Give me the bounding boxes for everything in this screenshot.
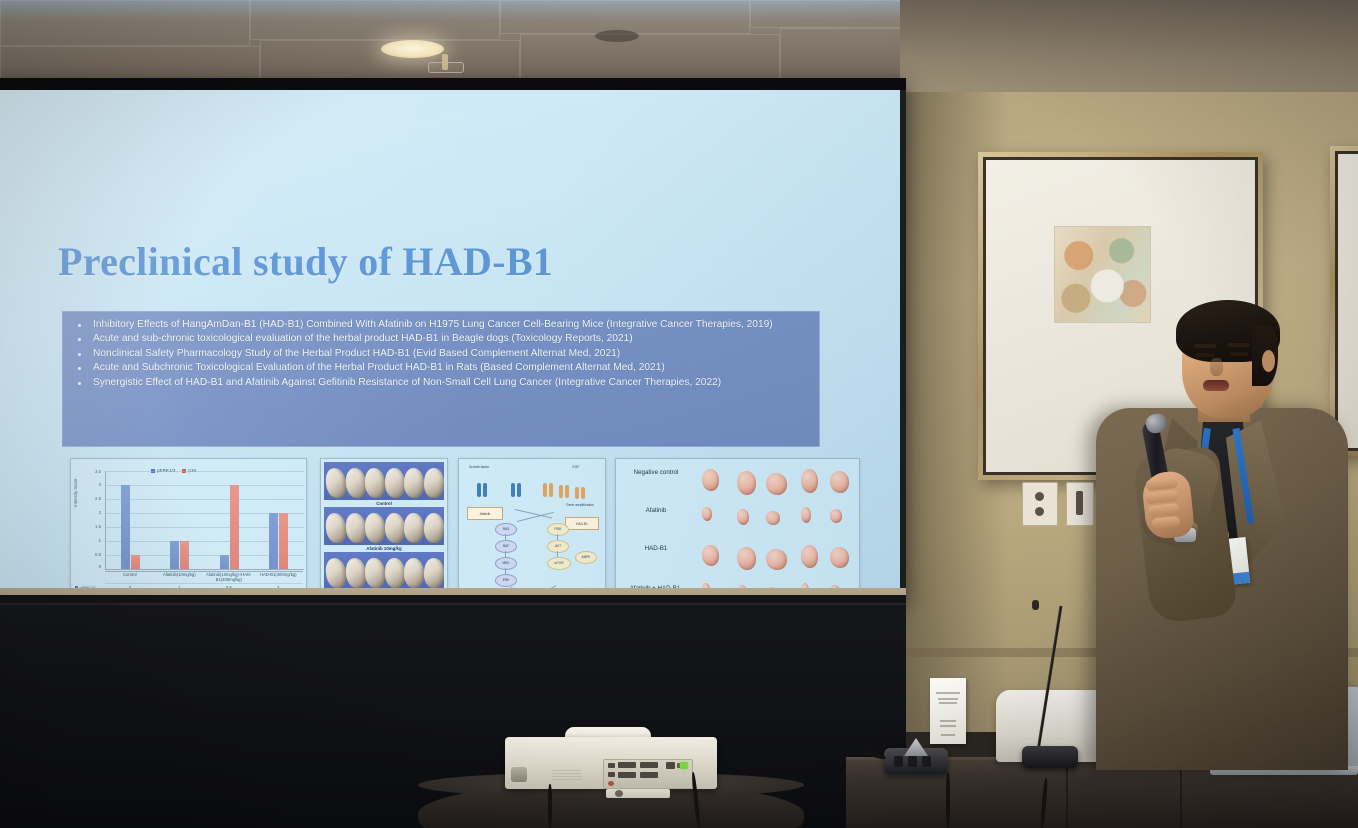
wall-outlet[interactable] <box>1022 482 1058 526</box>
tumor-specimen <box>702 507 712 521</box>
bar-group <box>121 485 140 569</box>
mouse-specimen <box>385 513 405 543</box>
pathway-node-mtor: mTOR <box>547 557 571 570</box>
list-item: Synergistic Effect of HAD-B1 and Afatini… <box>71 377 809 389</box>
list-item: Nonclinical Safety Pharmacology Study of… <box>71 348 809 360</box>
bar-p16 <box>279 513 288 569</box>
mouse-specimen <box>404 513 425 544</box>
y-tick: 2 <box>89 510 101 515</box>
y-tick: 2.5 <box>89 496 101 501</box>
bar-group <box>170 541 189 569</box>
y-tick: 1 <box>89 538 101 543</box>
mouse-specimen <box>324 512 347 544</box>
projector <box>505 727 717 789</box>
chart-gridline <box>106 471 304 472</box>
mouse-specimen <box>345 512 367 543</box>
receptor-icon-amplified <box>575 487 586 501</box>
presenter-nose <box>1210 358 1223 376</box>
list-item: Inhibitory Effects of HangAmDan-B1 (HAD-… <box>71 319 809 331</box>
mouse-specimen <box>365 468 386 499</box>
y-tick: 1.5 <box>89 524 101 529</box>
inhibitor-hadb1: HAD-B1 <box>565 517 599 530</box>
projected-slide: Preclinical study of HAD-B1 Inhibitory E… <box>0 90 900 595</box>
projector-cable <box>548 784 552 828</box>
tumor-specimen <box>766 511 780 525</box>
pathway-node-ampk: AMPK <box>575 551 597 564</box>
presenter-ear <box>1262 350 1275 372</box>
mice-image-row <box>324 507 444 545</box>
mouse-specimen <box>423 557 444 588</box>
table-tent-card <box>930 678 966 744</box>
pathway-node-raf: RAF <box>495 540 517 553</box>
tumor-specimen <box>801 545 818 568</box>
pathway-node-ras: RAS <box>495 523 517 536</box>
tumor-specimen <box>702 469 719 491</box>
projector-lan-led <box>680 762 688 769</box>
tumor-specimen <box>766 473 787 495</box>
mouse-specimen <box>423 467 444 498</box>
list-item: Acute and sub-chronic toxicological eval… <box>71 333 809 345</box>
tumor-row-label: HAD-B1 <box>620 545 692 553</box>
tumor-specimen <box>801 469 818 493</box>
mouse-specimen <box>345 467 367 498</box>
receptor-icon <box>511 483 522 497</box>
tumor-row-label: Negative control <box>620 469 692 477</box>
bar-group <box>269 513 288 569</box>
pathway-annotation: Gene amplification <box>557 503 603 507</box>
y-tick: 3 <box>89 482 101 487</box>
mice-image-row <box>324 552 444 590</box>
chart-category-label: Afatinib(10mg/kg) <box>155 572 205 583</box>
bar-perk12 <box>269 513 278 569</box>
pathway-label-egf: EGF <box>567 465 585 469</box>
tumor-specimen <box>766 549 787 570</box>
tumor-row-label: Afatinib <box>620 507 692 515</box>
tumor-specimen <box>830 471 849 493</box>
bar-group <box>220 485 239 569</box>
slide-figure-panels: pERK1/2 p16 Intensity Score 3.5 3 2.5 2 … <box>70 458 860 595</box>
y-tick: 0 <box>89 564 101 569</box>
receptor-icon-amplified <box>559 485 570 499</box>
receptor-icon-amplified <box>543 483 554 497</box>
y-tick: 0.5 <box>89 552 101 557</box>
mice-image-row <box>324 462 444 500</box>
pathway-node-pi3k: PI3K <box>547 523 569 536</box>
chart-category-label: Afatinib(10mg/kg)+HAD-B1(400mg/kg) <box>204 572 254 583</box>
tumor-specimen <box>737 471 756 495</box>
tumor-specimen <box>830 547 849 568</box>
tumor-photo-panel: Negative control Afatinib HAD-B1 Afatini… <box>615 458 860 595</box>
mouse-specimen <box>324 467 347 499</box>
bar-p16 <box>230 485 239 569</box>
slide-reference-list: Inhibitory Effects of HangAmDan-B1 (HAD-… <box>62 311 820 447</box>
tumor-specimen <box>702 545 719 566</box>
mouse-specimen <box>423 512 444 543</box>
presenter-hand <box>1141 470 1196 541</box>
gooseneck-mic-base[interactable] <box>1022 746 1078 768</box>
inhibitor-afatinib: Afatinib <box>467 507 503 520</box>
list-item: Acute and Subchronic Toxicological Evalu… <box>71 362 809 374</box>
bar-chart-panel: pERK1/2 p16 Intensity Score 3.5 3 2.5 2 … <box>70 458 307 595</box>
mouse-specimen <box>365 558 386 589</box>
mouse-specimen <box>404 558 425 589</box>
bar-perk12 <box>220 555 229 569</box>
mouse-specimen <box>404 468 425 499</box>
pathway-label-growth-factor: Growth factor <box>467 465 491 469</box>
receptor-icon <box>477 483 488 497</box>
bar-p16 <box>131 555 140 569</box>
ceiling-recessed-fixture <box>595 30 639 42</box>
gooseneck-mic-capsule <box>1032 600 1039 610</box>
y-tick: 3.5 <box>89 469 101 474</box>
slide-title: Preclinical study of HAD-B1 <box>58 238 553 285</box>
pathway-node-akt: AKT <box>547 540 569 553</box>
chart-category-label: HAD-B1(400mg/kg) <box>254 572 304 583</box>
signaling-pathway-panel: Growth factor EGF <box>458 458 606 595</box>
mouse-specimen <box>345 557 367 588</box>
mouse-specimen <box>324 557 347 589</box>
y-axis-label: Intensity Score <box>73 479 78 507</box>
mice-photo-panel: Control Afatinib 10mg/kg Afatinib 10mg/k… <box>320 458 448 595</box>
mouse-specimen <box>385 558 405 588</box>
conference-room-photo: Preclinical study of HAD-B1 Inhibitory E… <box>0 0 1358 828</box>
bar-perk12 <box>170 541 179 569</box>
projector-lens <box>511 767 527 782</box>
power-cable <box>946 772 950 828</box>
tumor-specimen <box>737 509 749 525</box>
presenter-mouth <box>1203 380 1229 391</box>
sprinkler-head-icon <box>428 54 462 74</box>
tumor-specimen <box>737 547 756 570</box>
bar-p16 <box>180 541 189 569</box>
tumor-specimen <box>830 509 842 523</box>
pathway-node-mek: MEK <box>495 557 517 570</box>
presenter <box>1086 300 1358 770</box>
mouse-specimen <box>365 513 386 544</box>
chart-category-label: Control <box>105 572 155 583</box>
power-hub-cone <box>904 738 928 756</box>
mouse-specimen <box>385 468 405 498</box>
pathway-node-erk: ERK <box>495 574 517 587</box>
bar-perk12 <box>121 485 130 569</box>
tumor-specimen <box>801 507 811 523</box>
projection-screen-top-bar <box>0 78 906 90</box>
chart-plot-area <box>105 471 304 570</box>
